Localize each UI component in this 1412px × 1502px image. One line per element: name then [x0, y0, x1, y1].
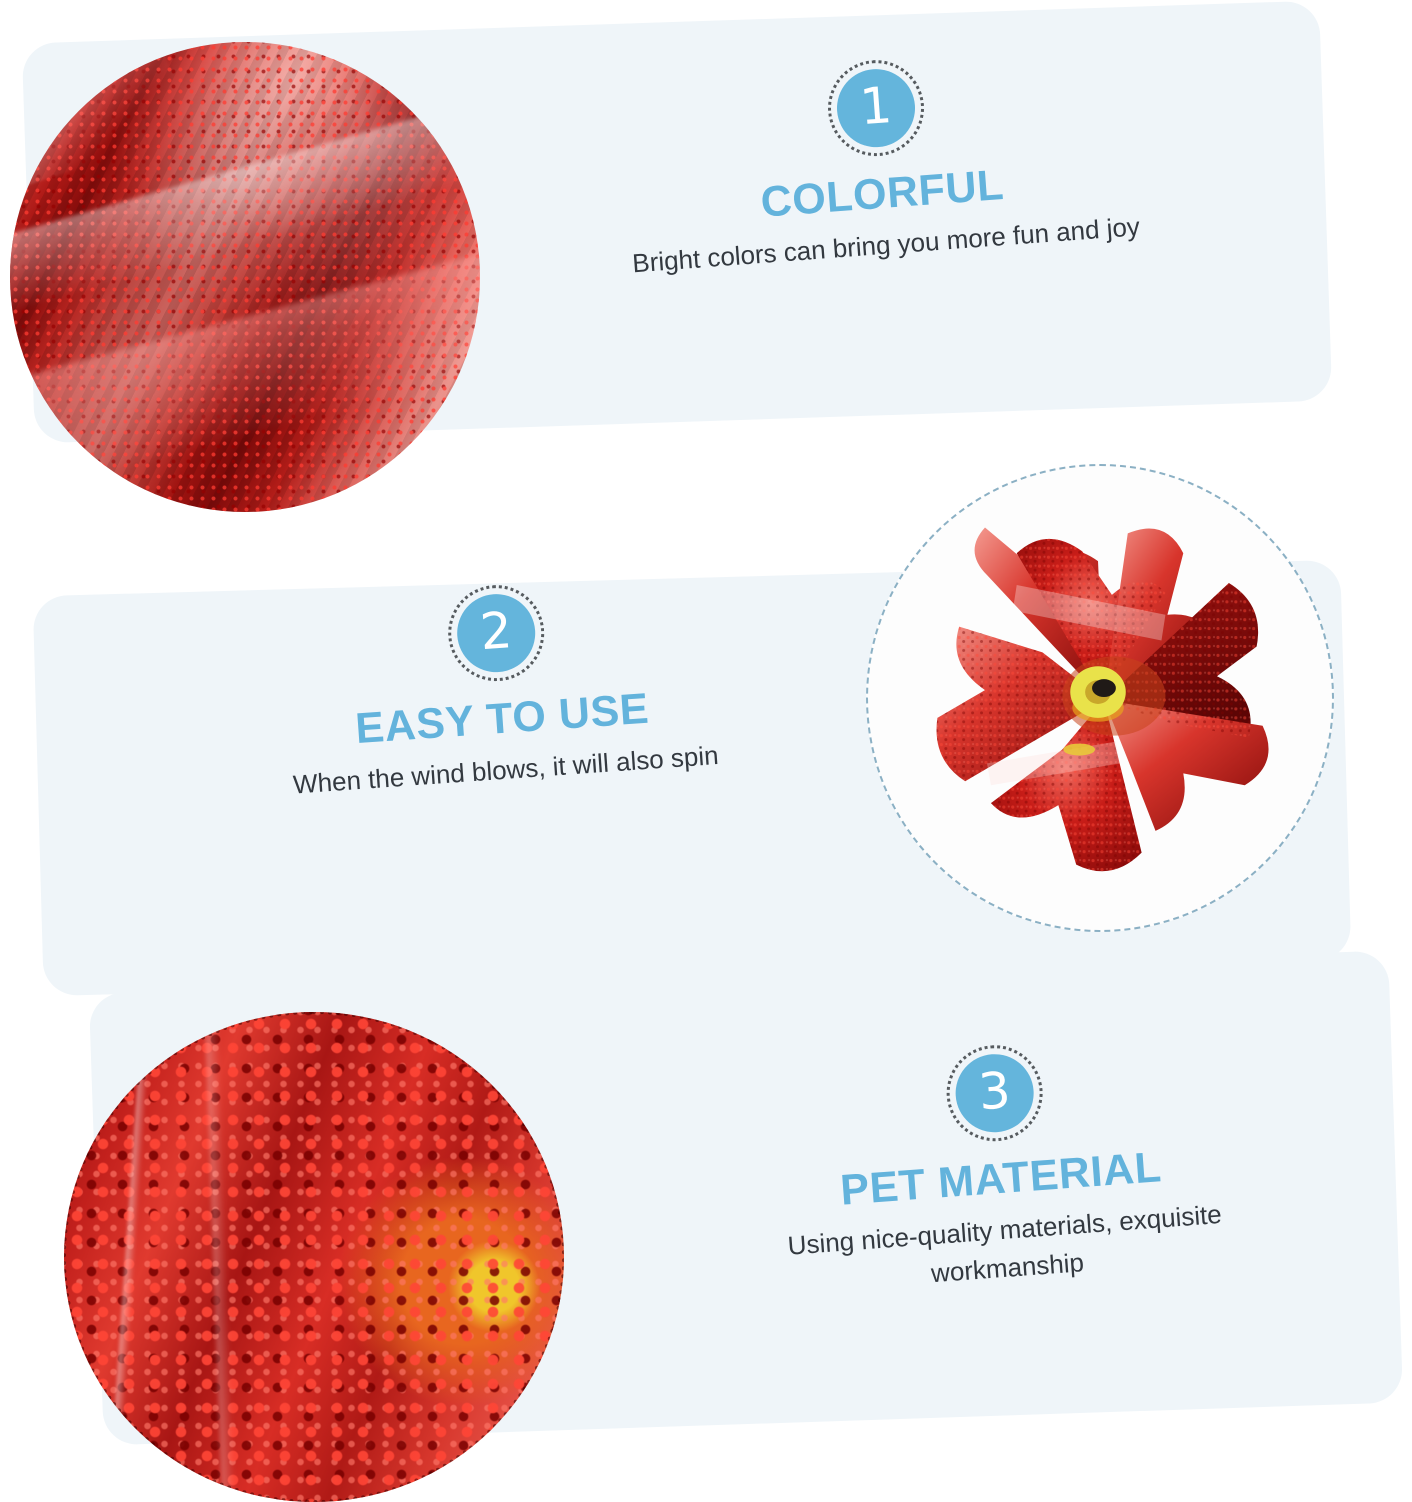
- pinwheel-illustration: [868, 466, 1332, 930]
- badge-number-3: 3: [943, 1042, 1046, 1145]
- step-badge-2: 2: [445, 582, 547, 684]
- feature-image-2-pinwheel: [866, 464, 1334, 932]
- photo-3-serrated-rim: [64, 1012, 564, 1502]
- feature-text-3: 3 PET MATERIAL Using nice-quality materi…: [672, 1022, 1328, 1311]
- step-badge-1: 1: [825, 57, 928, 160]
- hub-pin: [1092, 679, 1116, 697]
- step-badge-3: 3: [943, 1042, 1046, 1145]
- badge-number-1: 1: [825, 57, 928, 160]
- infographic-canvas: 1 COLORFUL Bright colors can bring you m…: [0, 0, 1412, 1500]
- feature-image-3-glitter-material: [64, 1012, 564, 1502]
- feature-image-1-holographic-sheet: [10, 42, 480, 512]
- badge-number-2: 2: [445, 582, 547, 684]
